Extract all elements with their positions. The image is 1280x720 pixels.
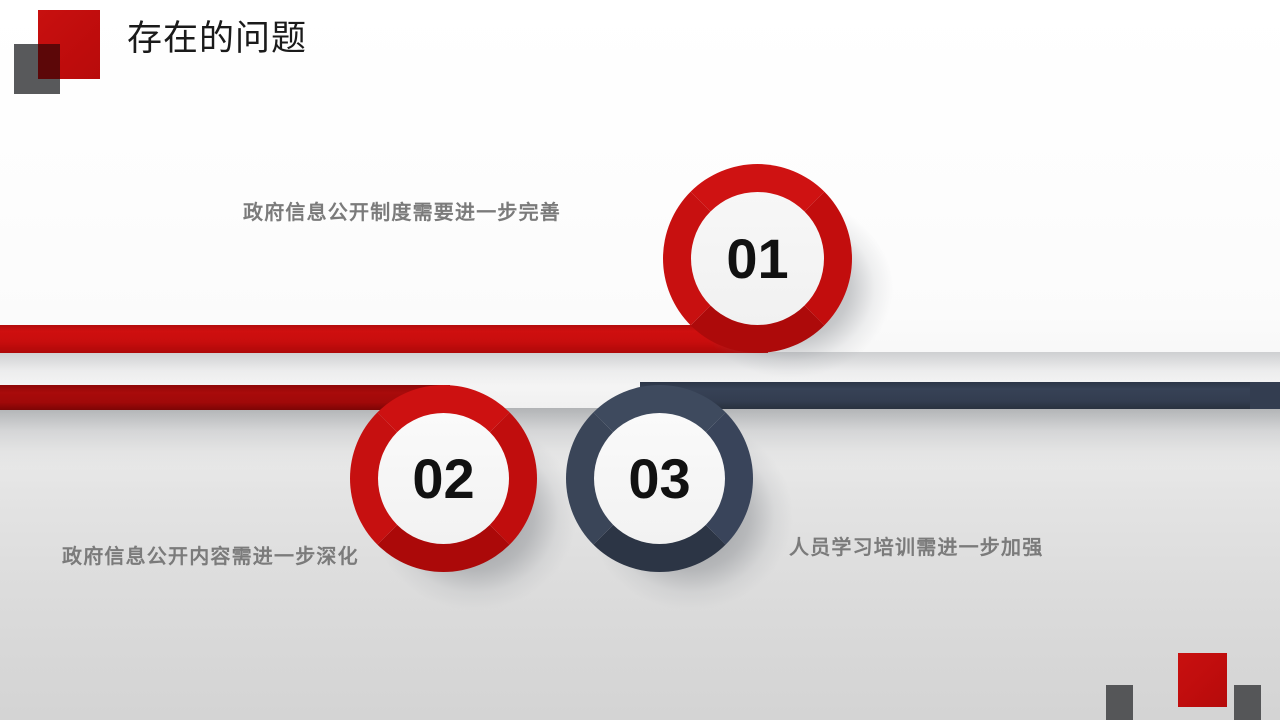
slide-canvas: 存在的问题 01 政府信息公开制度需要进一步完善 02 政府信息公开内容需进一步… (0, 0, 1280, 720)
step-caption-02: 政府信息公开内容需进一步深化 (62, 540, 359, 569)
page-title: 存在的问题 (127, 17, 307, 61)
step-circle-01[interactable]: 01 (663, 164, 852, 353)
step-circle-03[interactable]: 03 (566, 385, 753, 572)
step-number-03: 03 (628, 451, 690, 507)
navy-ribbon-end-cap (1250, 382, 1280, 409)
step-caption-01: 政府信息公开制度需要进一步完善 (243, 196, 561, 225)
brand-logo (14, 10, 100, 94)
top-red-ribbon (0, 325, 768, 353)
step-number-01: 01 (726, 231, 788, 287)
navy-ribbon (640, 382, 1280, 409)
step-number-02: 02 (412, 451, 474, 507)
logo-overlap-square (38, 44, 60, 79)
step-caption-03: 人员学习培训需进一步加强 (789, 531, 1043, 560)
decor-gray-bar-right (1234, 685, 1261, 720)
decor-red-square (1178, 653, 1227, 707)
step-circle-02[interactable]: 02 (350, 385, 537, 572)
decor-gray-bar-left (1106, 685, 1133, 720)
top-ribbon-shadow (0, 352, 1280, 386)
